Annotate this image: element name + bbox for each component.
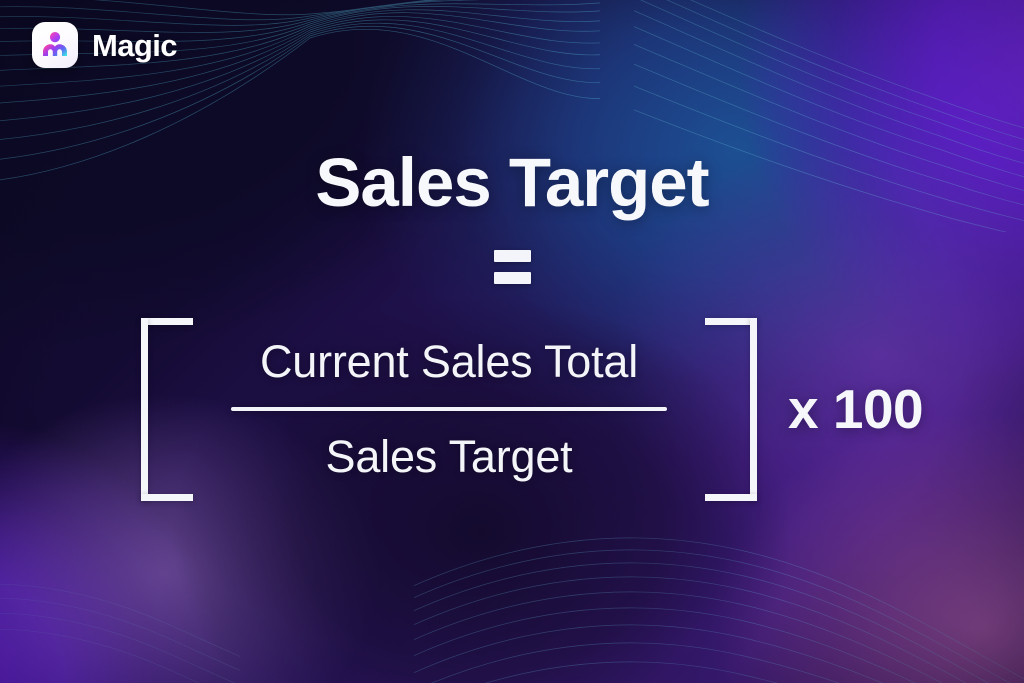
bracket-left-top-arm	[141, 318, 193, 325]
bracket-left-stem	[141, 318, 148, 501]
page-title: Sales Target	[0, 148, 1024, 217]
equals-bar-bottom	[494, 272, 531, 284]
magic-logo-mark-icon	[32, 22, 78, 68]
equals-sign	[0, 250, 1024, 284]
magic-logo-glyph-icon	[40, 30, 70, 60]
brand-name-label: Magic	[92, 30, 177, 61]
wave-mesh-bottom-right	[414, 477, 1024, 683]
bracket-right-icon	[705, 318, 757, 501]
brand-logo[interactable]: Magic	[32, 22, 177, 68]
bracket-right-stem	[750, 318, 757, 501]
fraction-bar	[231, 407, 667, 411]
multiplier-label: x 100	[788, 382, 923, 437]
slide-canvas: Magic Sales Target Current Sales Total S…	[0, 0, 1024, 683]
fraction-numerator: Current Sales Total	[260, 338, 638, 387]
wave-mesh-bottom-left	[0, 553, 240, 683]
equals-glyph-icon	[494, 250, 531, 284]
formula-expression: Current Sales Total Sales Target x 100	[141, 318, 923, 501]
bracket-left-icon	[141, 318, 193, 501]
bracket-left-bottom-arm	[141, 494, 193, 501]
bracket-right-bottom-arm	[705, 494, 757, 501]
equals-bar-top	[494, 250, 531, 262]
fraction: Current Sales Total Sales Target	[193, 318, 705, 501]
fraction-denominator: Sales Target	[326, 433, 573, 482]
